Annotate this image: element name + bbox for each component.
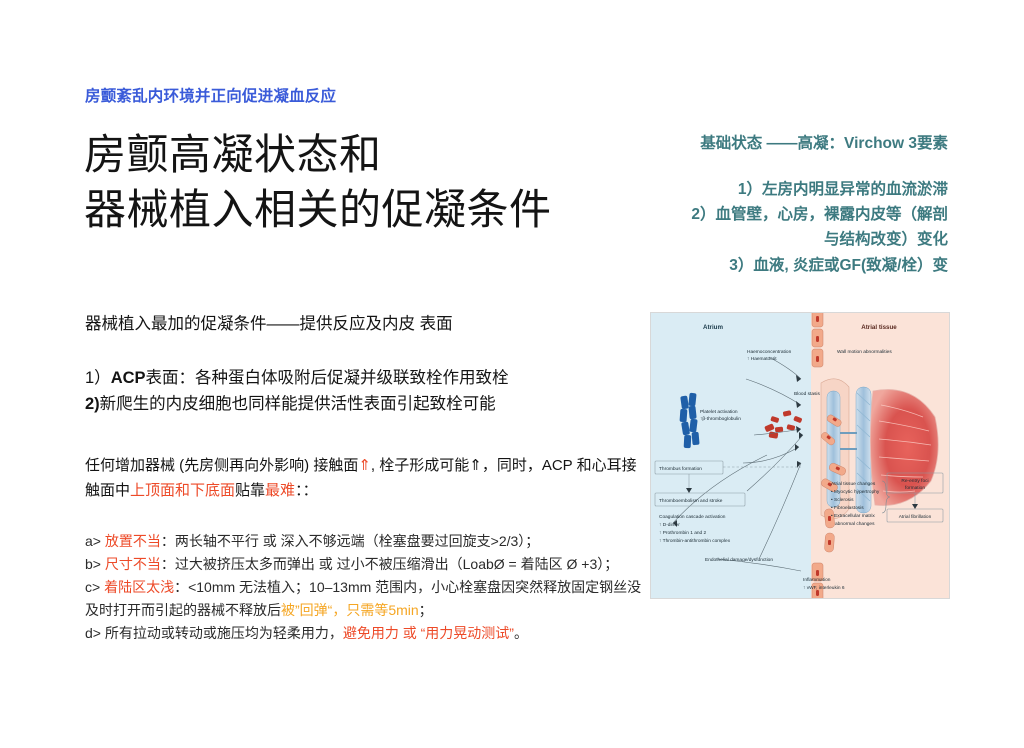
virchow-heading: 基础状态 ——高凝：Virchow 3要素: [618, 132, 948, 155]
numbered-bold-1: ACP: [111, 369, 146, 387]
contact-surface-paragraph: 任何增加器械 (先房侧再向外影响) 接触面⇑, 栓子形成可能⇑，同时，ACP 和…: [85, 454, 650, 504]
title-line-1: 房颤高凝状态和: [84, 128, 654, 183]
item-d-tail: 。: [514, 625, 528, 641]
body-lead: 器械植入最加的促凝条件——提供反应及内皮 表面: [85, 312, 650, 337]
item-d-text: 所有拉动或转动或施压均为轻柔用力，: [105, 625, 343, 641]
list-item-c: c> 着陆区太浅：<10mm 无法植入；10–13mm 范围内，小心栓塞盘因突然…: [85, 576, 650, 622]
numbered-list: 1）ACP表面：各种蛋白体吸附后促凝并级联致栓作用致栓 2)新爬生的内皮细胞也同…: [85, 365, 650, 418]
atrium-background: [651, 313, 811, 598]
virchow-panel: 基础状态 ——高凝：Virchow 3要素 1）左房内明显异常的血流淤滞 2）血…: [618, 132, 948, 278]
item-b-marker: b>: [85, 556, 101, 572]
figure-label-atrium: Atrium: [703, 324, 723, 331]
para-highlight-surfaces: 上顶面和下底面: [130, 482, 235, 499]
label-myocytic-hypertrophy: • Myocytic hypertrophy: [831, 489, 880, 495]
figure-label-atrial-tissue: Atrial tissue: [861, 324, 897, 331]
label-haemoconcentration: Haemoconcentration: [747, 349, 792, 355]
para-seg-4: 贴靠: [235, 482, 265, 499]
label-ecm-cont: abnormal changes: [835, 521, 875, 527]
label-inflammation: Inflammation: [803, 577, 831, 583]
label-d-dimer: ↑ D-dimer: [659, 522, 680, 528]
label-platelet-activation: Platelet activation: [700, 409, 738, 415]
item-a-marker: a>: [85, 533, 101, 549]
para-seg-1: 任何增加器械 (先房侧再向外影响) 接触面: [85, 457, 358, 474]
item-c-marker: c>: [85, 579, 100, 595]
title-line-2: 器械植入相关的促凝条件: [84, 183, 654, 238]
numbered-item-2: 2)新爬生的内皮细胞也同样能提供活性表面引起致栓可能: [85, 391, 650, 418]
label-tat-complex: ↑ Thrombin-antithrombin complex: [659, 538, 731, 544]
label-reentry-foci: Re-entry foci: [901, 478, 928, 484]
label-atrial-fibrillation: Atrial fibrillation: [899, 514, 932, 520]
item-d-highlight: 避免用力 或 “用力晃动测试”: [343, 625, 514, 641]
list-item-b: b> 尺寸不当：过大被挤压太多而弹出 或 过小不被压缩滑出（LoabØ = 着陆…: [85, 553, 650, 576]
numbered-marker-2: 2): [85, 395, 100, 413]
body-copy: 器械植入最加的促凝条件——提供反应及内皮 表面 1）ACP表面：各种蛋白体吸附后…: [85, 312, 650, 644]
virchow-item-3: 3）血液, 炎症或GF(致凝/栓）变: [618, 253, 948, 278]
para-highlight-hardest: 最难: [265, 482, 295, 499]
item-d-marker: d>: [85, 625, 101, 641]
item-a-highlight: 放置不当: [105, 533, 161, 549]
label-thrombus-formation: Thrombus formation: [659, 466, 702, 472]
item-c-highlight: 着陆区太浅: [104, 579, 174, 595]
virchow-item-2-cont: 与结构改变）变化: [618, 227, 948, 252]
page-title: 房颤高凝状态和 器械植入相关的促凝条件: [84, 128, 654, 237]
af-mechanism-figure: Atrium Atrial tissue: [650, 312, 950, 599]
list-item-a: a> 放置不当：两长轴不平行 或 深入不够远端（栓塞盘要过回旋支>2/3）；: [85, 530, 650, 553]
para-seg-2: , 栓子形成可能: [371, 457, 469, 474]
slide-canvas: 房颤紊乱内环境并正向促进凝血反应 房颤高凝状态和 器械植入相关的促凝条件 基础状…: [0, 0, 1024, 748]
label-prothrombin: ↑ Prothrombin 1 and 2: [659, 530, 707, 536]
item-c-orange: 被”回弹“，只需等5min: [281, 602, 419, 618]
item-a-text: ：两长轴不平行 或 深入不够远端（栓塞盘要过回旋支>2/3）；: [161, 533, 539, 549]
up-arrow-icon: ⇑: [469, 457, 482, 474]
item-b-text: ：过大被挤压太多而弹出 或 过小不被压缩滑出（LoabØ = 着陆区 Ø +3）…: [161, 556, 618, 572]
item-b-highlight: 尺寸不当: [105, 556, 161, 572]
label-coagulation-cascade: Coagulation cascade activation: [659, 514, 726, 520]
label-sclerosis: • Sclerosis: [831, 497, 854, 503]
label-reentry-formation: formation: [905, 485, 925, 491]
item-c-tail: ；: [419, 602, 433, 618]
label-thromboembolism: Thromboembolism and stroke: [659, 498, 723, 504]
label-vwf: ↑ vWF, interleukin 6: [803, 585, 845, 591]
slide-kicker: 房颤紊乱内环境并正向促进凝血反应: [85, 84, 336, 106]
label-thromboglobulin: ↑β-thromboglobulin: [700, 416, 741, 422]
label-blood-stasis: Blood stasis: [794, 391, 820, 397]
label-fibroelastosis: • Fibroelastosis: [831, 505, 864, 511]
numbered-marker-1: 1）: [85, 369, 111, 387]
label-wall-motion: Wall motion abnormalities: [837, 349, 892, 355]
para-seg-5: ：：: [295, 482, 318, 499]
failure-mode-list: a> 放置不当：两长轴不平行 或 深入不够远端（栓塞盘要过回旋支>2/3）； b…: [85, 530, 650, 645]
numbered-text-2: 新爬生的内皮细胞也同样能提供活性表面引起致栓可能: [100, 395, 496, 413]
label-endothelial-damage: Endothelial damage/dysfunction: [705, 557, 773, 563]
list-item-d: d> 所有拉动或转动或施压均为轻柔用力，避免用力 或 “用力晃动测试”。: [85, 622, 650, 645]
up-arrow-icon-red: ⇑: [358, 457, 371, 474]
virchow-list: 1）左房内明显异常的血流淤滞 2）血管壁，心房，裸露内皮等（解剖 与结构改变）变…: [618, 177, 948, 277]
label-tissue-changes: Atrial tissue changes: [831, 481, 876, 487]
figure-svg: Atrium Atrial tissue: [651, 313, 949, 598]
numbered-item-1: 1）ACP表面：各种蛋白体吸附后促凝并级联致栓作用致栓: [85, 365, 650, 392]
label-haematocrit: ↑ Haematocrit: [747, 356, 777, 362]
label-ecm: • Extracellular matrix: [831, 513, 875, 519]
virchow-item-1: 1）左房内明显异常的血流淤滞: [618, 177, 948, 202]
virchow-item-2: 2）血管壁，心房，裸露内皮等（解剖: [618, 202, 948, 227]
numbered-text-1: 表面：各种蛋白体吸附后促凝并级联致栓作用致栓: [146, 369, 509, 387]
